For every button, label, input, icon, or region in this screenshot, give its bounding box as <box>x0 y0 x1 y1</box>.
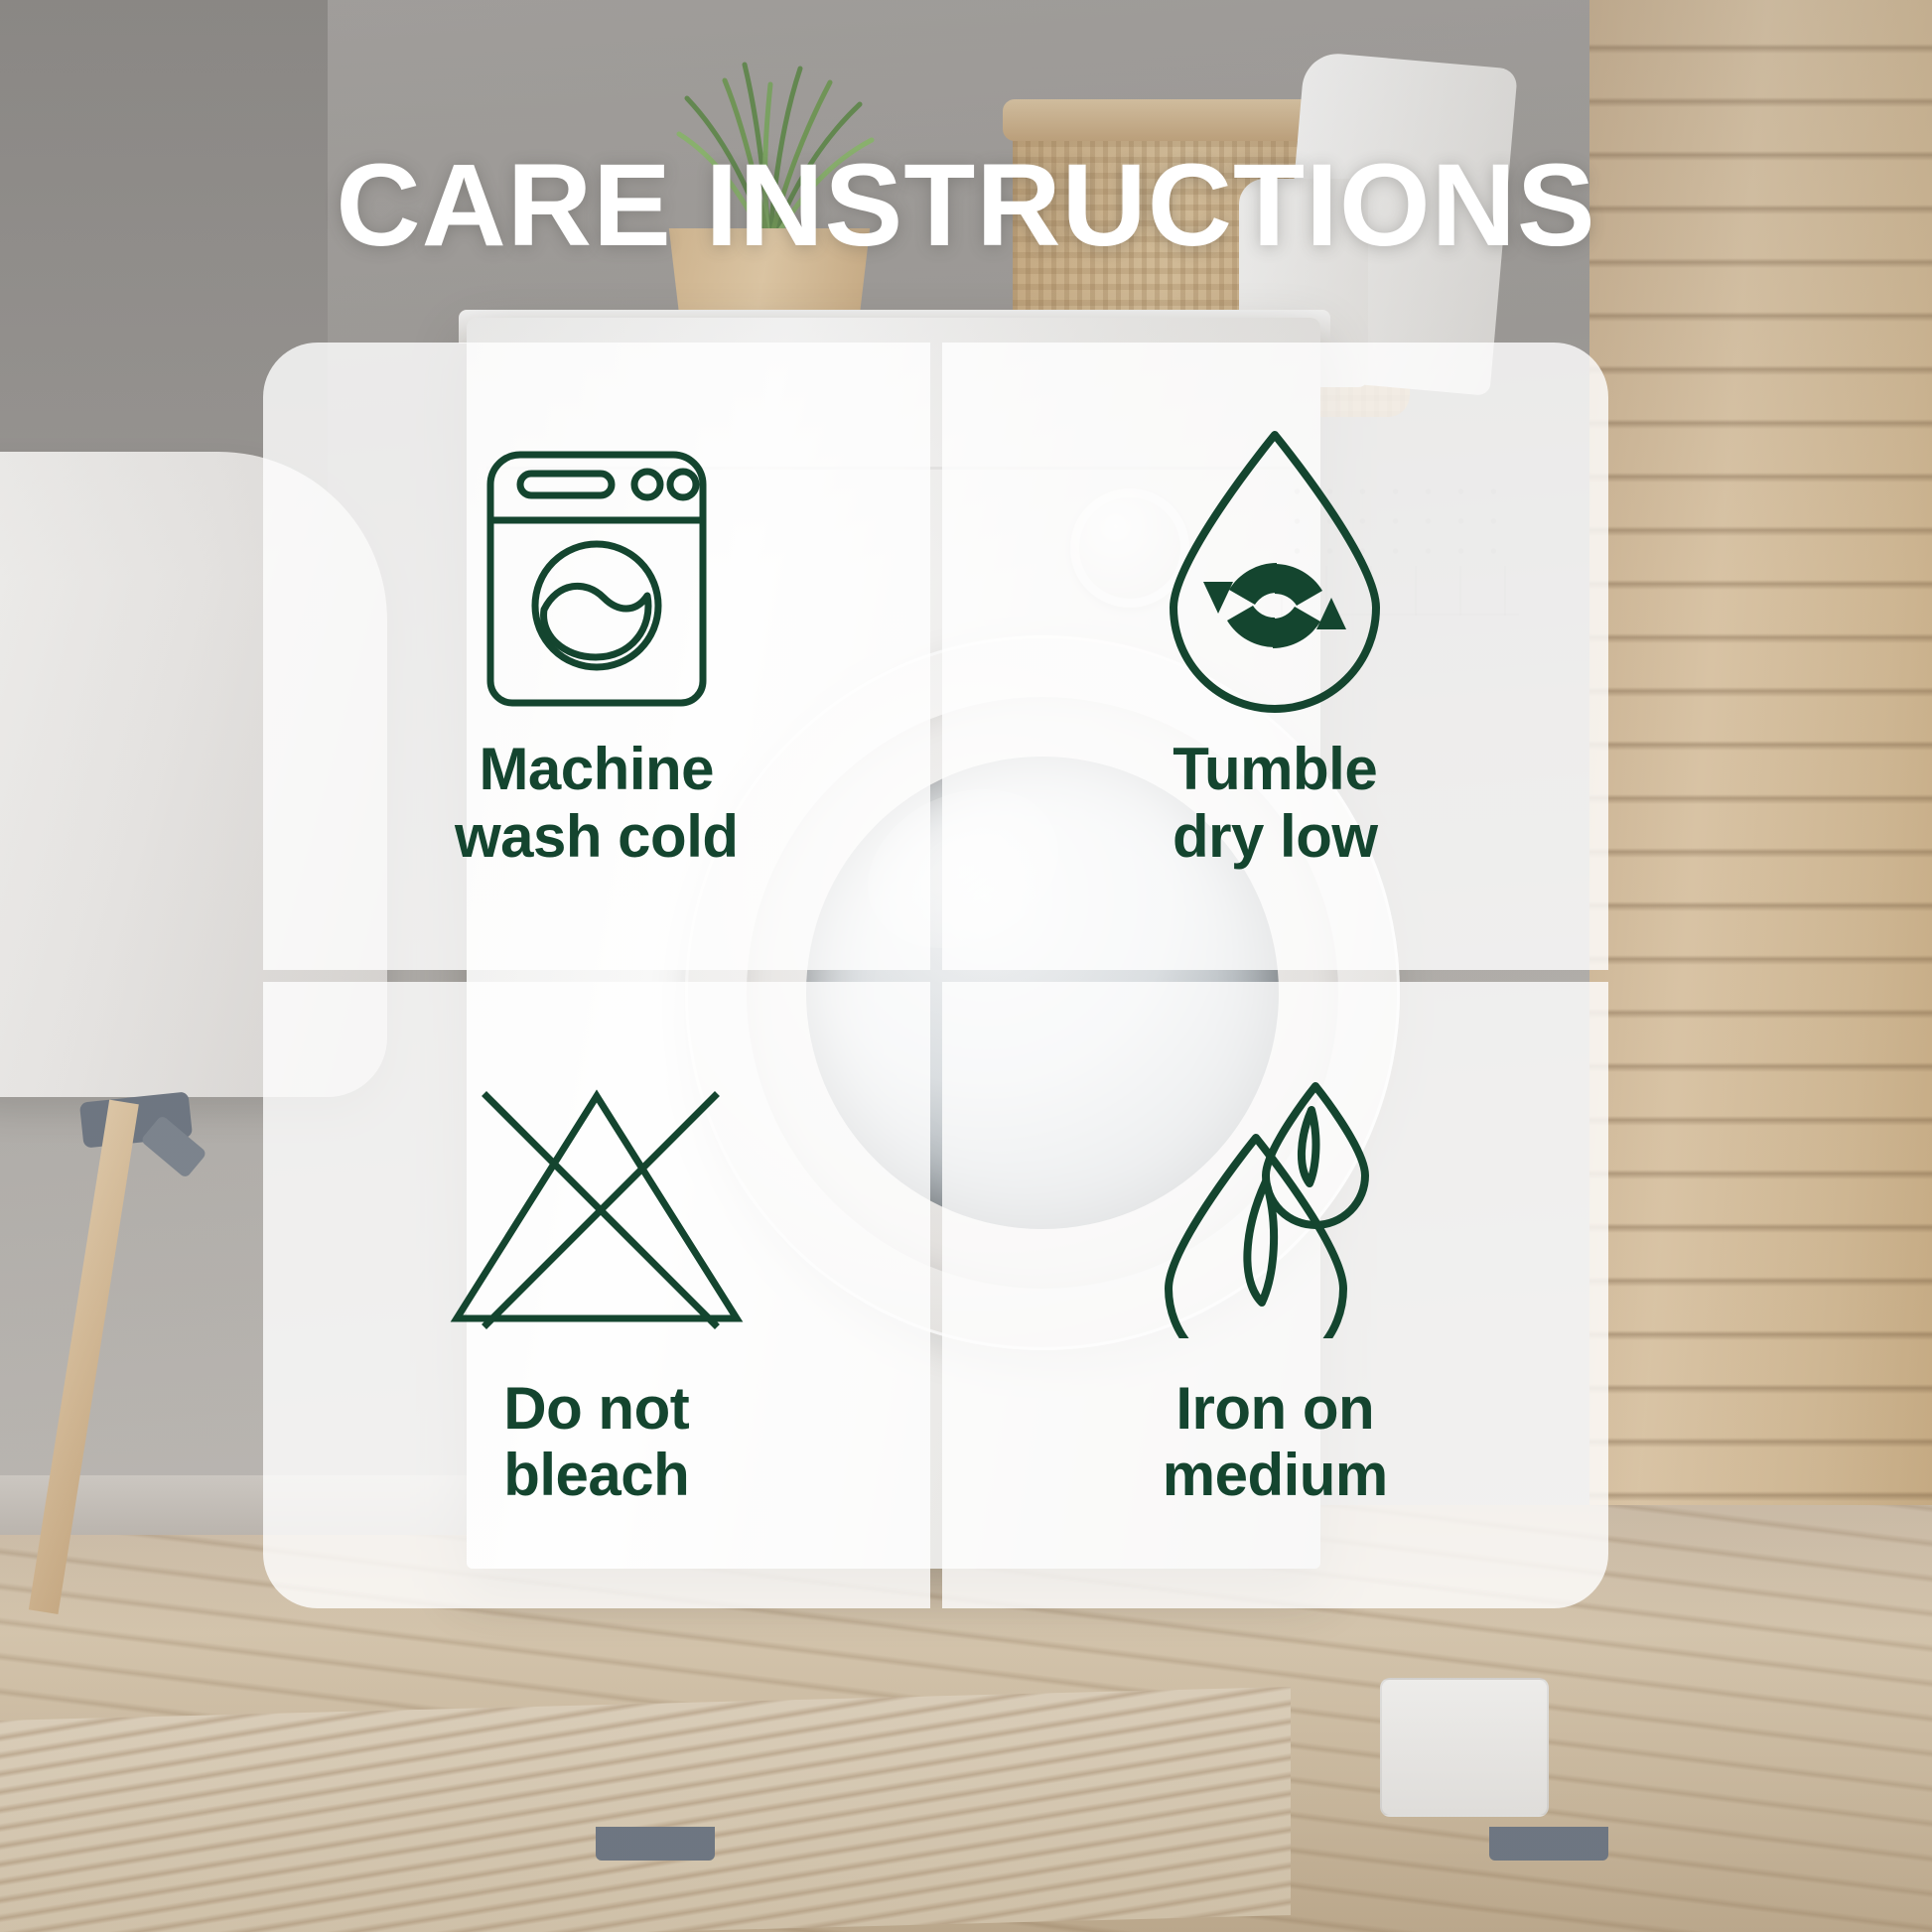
washing-machine-icon <box>473 404 721 732</box>
droplet-refresh-icon <box>1156 404 1394 732</box>
page-title: CARE INSTRUCTIONS <box>0 147 1932 264</box>
care-card-label: Machine wash cold <box>431 736 762 871</box>
care-card-label: Iron on medium <box>1139 1375 1412 1510</box>
care-instructions-grid: Machine wash cold Tumble dry low <box>263 343 1608 1608</box>
care-card-tumble-dry-low[interactable]: Tumble dry low <box>942 343 1609 970</box>
care-card-do-not-bleach[interactable]: Do not bleach <box>263 982 930 1609</box>
triangle-crossed-out-icon <box>449 1043 745 1371</box>
two-droplets-icon <box>1151 1043 1399 1371</box>
refresh-arrows <box>1203 563 1346 648</box>
care-card-label: Tumble dry low <box>1149 736 1402 871</box>
care-card-iron-on-medium[interactable]: Iron on medium <box>942 982 1609 1609</box>
care-card-label: Do not bleach <box>480 1375 713 1510</box>
care-card-machine-wash-cold[interactable]: Machine wash cold <box>263 343 930 970</box>
